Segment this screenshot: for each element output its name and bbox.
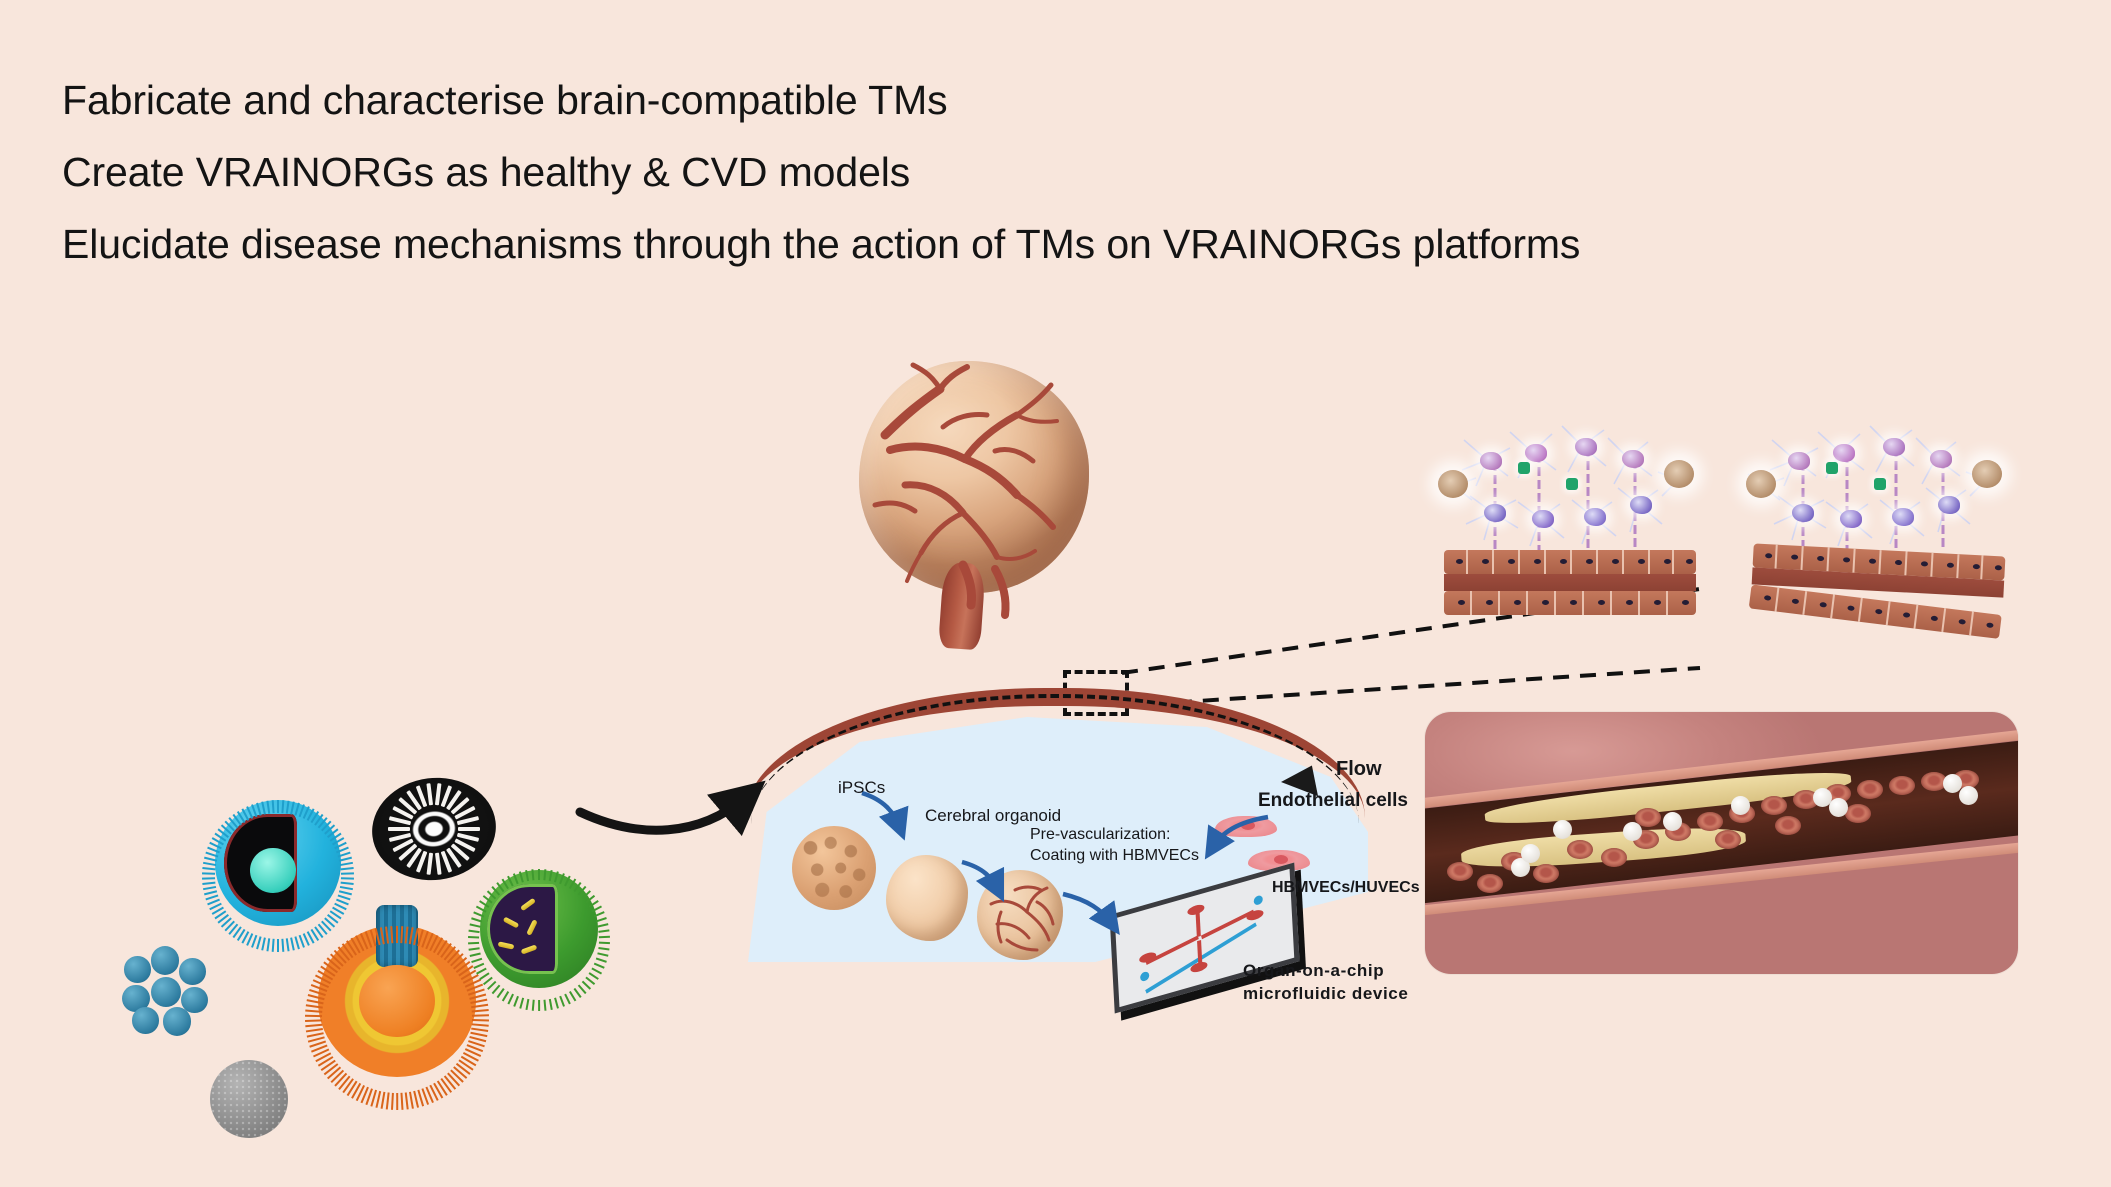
endothelial-cell	[1215, 816, 1277, 837]
microglia-cell	[1972, 460, 2002, 488]
lipid-bristle	[277, 939, 279, 952]
cerebral-organoid-spheroid	[886, 855, 968, 941]
dendrimer-engraving-nanoparticle	[366, 771, 502, 887]
lipid-bristle	[341, 882, 354, 885]
chip-red-channel-right	[1201, 910, 1254, 940]
dendrimer-spoke	[435, 783, 442, 805]
micelle-lipid-tail	[472, 1019, 489, 1021]
dendrimer-spoke	[427, 853, 434, 875]
neuron-soma	[1630, 496, 1652, 514]
graphical-abstract-canvas: Fabricate and characterise brain-compati…	[0, 0, 2111, 1187]
endothelial-layer-bottom	[1444, 591, 1696, 615]
red-blood-cell	[1601, 848, 1627, 867]
polymersome-bristle	[513, 873, 519, 884]
lipid-bristle	[290, 937, 295, 950]
vessel-wall	[1444, 550, 1696, 612]
lipid-bristle	[286, 801, 290, 814]
polymersome-bristle	[471, 958, 482, 963]
red-blood-cell	[1533, 864, 1559, 883]
dendrimer-spoke	[435, 853, 442, 875]
micelle-core	[359, 965, 435, 1038]
microglia-cell	[1746, 470, 1776, 498]
polymersome-bristle	[599, 942, 610, 944]
polymersome-bristle	[594, 911, 605, 917]
polymersome-bristle	[554, 871, 559, 882]
lipid-bristle	[272, 939, 275, 952]
micelle-lipid-tail	[472, 1014, 489, 1017]
lipid-bristle	[341, 867, 354, 870]
lipid-bristle	[202, 867, 215, 870]
lipid-bristle	[286, 938, 290, 951]
micelle-lipid-tail	[305, 1015, 322, 1017]
neuron-soma	[1792, 504, 1814, 522]
microglia-cell	[1438, 470, 1468, 498]
label-prevascularization-line1: Pre-vascularization:	[1030, 826, 1171, 845]
neuron-soma	[1892, 508, 1914, 526]
micelle-lipid-tail	[400, 1093, 403, 1110]
mesoporous-silica-nanoparticle	[210, 1060, 288, 1138]
white-blood-cell	[1731, 796, 1750, 815]
polymersome-bristle	[471, 917, 482, 922]
lipid-bristle	[261, 801, 266, 814]
micelle-lipid-tail	[305, 1024, 322, 1028]
red-blood-cell	[1697, 812, 1723, 831]
lipid-bristle	[203, 886, 216, 890]
dendrimer-spoke	[426, 783, 433, 805]
polymersome-bristle	[559, 996, 565, 1007]
red-blood-cell	[1715, 830, 1741, 849]
lipid-bristle	[261, 937, 266, 950]
neuron-soma	[1575, 438, 1597, 456]
polymersome-bristle	[502, 879, 509, 889]
polymersome-bristle	[543, 1000, 546, 1011]
neuron-soma	[1788, 452, 1810, 470]
lipid-bristle	[277, 800, 279, 813]
white-blood-cell	[1553, 820, 1572, 839]
headline-item-2: Create VRAINORGs as healthy & CVD models	[62, 152, 1862, 193]
micelle-lipid-tail	[472, 1009, 489, 1012]
neuron-soma	[1883, 438, 1905, 456]
atherosclerotic-vessel-panel	[1425, 712, 2018, 974]
healthy-neurovascular-unit	[1432, 400, 1702, 630]
micelle-lipid-tail	[305, 1009, 322, 1012]
neuron-soma	[1525, 444, 1547, 462]
red-blood-cell	[1845, 804, 1871, 823]
micelle-lipid-tail	[307, 999, 324, 1004]
micelle-lipid-tail	[386, 1092, 390, 1109]
label-prevascularization-line2: Coating with HBMVECs	[1030, 847, 1199, 866]
polymersome-bristle	[598, 947, 609, 950]
label-cerebral-organoid: Cerebral organoid	[925, 806, 1061, 826]
chip-port-blue-left	[1140, 971, 1149, 982]
polymersome-bristle	[531, 869, 534, 880]
lipid-bristle	[266, 938, 270, 951]
micelle-lipid-tail	[471, 1004, 488, 1008]
polymersome-with-rods	[480, 870, 598, 988]
polymersome-bristle	[532, 1000, 535, 1011]
polymersome-bristle	[564, 994, 571, 1005]
synapse-marker	[1874, 478, 1886, 490]
white-blood-cell	[1959, 786, 1978, 805]
red-blood-cell	[1447, 862, 1473, 881]
polymersome-bristle	[476, 906, 487, 913]
microglia-cell	[1664, 460, 1694, 488]
polymersome-bristle	[549, 870, 553, 881]
neuron-soma	[1938, 496, 1960, 514]
headline-item-3: Elucidate disease mechanisms through the…	[62, 224, 1862, 265]
organoid-microvessels	[977, 870, 1063, 960]
dendrimer-spoke	[388, 827, 410, 831]
polymersome-bristle	[468, 936, 479, 938]
polymersome-bristle	[597, 923, 608, 927]
lipid-bristle	[266, 801, 270, 814]
neuron-soma	[1833, 444, 1855, 462]
synapse-marker	[1566, 478, 1578, 490]
red-blood-cell	[1775, 816, 1801, 835]
red-blood-cell	[1477, 874, 1503, 893]
chip-red-channel-left	[1146, 935, 1199, 965]
prevascularised-organoid-spheroid	[977, 870, 1063, 960]
vessel-wall	[1751, 543, 2006, 618]
lipid-bristle	[256, 803, 262, 816]
polymersome-bristle	[597, 952, 608, 956]
diseased-neurovascular-unit	[1740, 400, 2010, 630]
lipid-bristle	[341, 872, 354, 874]
ipsc-aggregate	[792, 826, 876, 910]
lipid-bristle	[203, 862, 216, 866]
polymersome-bristle	[594, 963, 605, 969]
polymersome-bristle	[470, 953, 481, 957]
white-blood-cell	[1829, 798, 1848, 817]
polymersome-bristle	[519, 871, 524, 882]
liposome-cutaway-nanoparticle	[215, 800, 341, 926]
synapse-marker	[1826, 462, 1838, 474]
micelle-lipid-tail	[305, 1019, 322, 1022]
polymersome-bristle	[469, 947, 480, 950]
polymeric-nanosphere	[116, 938, 218, 1040]
vascularised-brain-organoid	[845, 355, 1105, 645]
polymersome-bristle	[525, 999, 529, 1010]
neuron-soma	[1930, 450, 1952, 468]
micelle-lipid-tail	[472, 1023, 489, 1026]
polymersome-bristle	[543, 869, 546, 880]
polymersome-bristle	[507, 876, 514, 887]
polymersome-bristle	[599, 936, 610, 939]
lipid-bristle	[202, 872, 215, 874]
polymersome-core	[487, 884, 558, 974]
neuron-soma	[1840, 510, 1862, 528]
white-blood-cell	[1663, 812, 1682, 831]
micelle-with-membrane-protein	[318, 925, 476, 1077]
lipid-bristle	[281, 800, 284, 813]
polymersome-bristle	[559, 873, 565, 884]
neuron-soma	[1480, 452, 1502, 470]
polymersome-bristle	[525, 870, 529, 881]
neuron-soma	[1584, 508, 1606, 526]
lipid-bristle	[202, 882, 215, 885]
chip-port-blue-right	[1254, 895, 1263, 906]
neuron-soma	[1484, 504, 1506, 522]
organoid-vessel-network	[845, 355, 1105, 645]
polymersome-bristle	[519, 998, 524, 1009]
polymersome-bristle	[549, 999, 553, 1010]
polymersome-bristle	[596, 917, 607, 922]
liposome-cargo	[250, 848, 295, 893]
lipid-bristle	[339, 857, 352, 862]
lipid-bristle	[340, 886, 353, 890]
polymersome-bristle	[598, 929, 609, 932]
polymersome-bristle	[596, 958, 607, 963]
red-blood-cell	[1567, 840, 1593, 859]
lipid-bristle	[341, 877, 354, 879]
endothelial-layer-top	[1444, 550, 1696, 574]
lipid-bristle	[281, 939, 284, 952]
micelle-lipid-tail	[396, 926, 398, 943]
micelle-lipid-tail	[306, 1004, 323, 1008]
micelle-lipid-tail	[391, 1093, 394, 1110]
dendrimer-spoke	[458, 827, 480, 831]
white-blood-cell	[1521, 844, 1540, 863]
headline-item-1: Fabricate and characterise brain-compati…	[62, 80, 1862, 121]
micelle-lipid-tail	[405, 1092, 409, 1109]
synapse-marker	[1518, 462, 1530, 474]
vessel-lumen	[1444, 574, 1696, 591]
polymersome-bristle	[468, 942, 479, 945]
polymersome-bristle	[468, 930, 479, 933]
white-blood-cell	[1623, 822, 1642, 841]
label-endothelial-cells: Endothelial cells	[1258, 790, 1408, 812]
micelle-lipid-tail	[396, 1093, 398, 1110]
label-chip-line2: microfluidic device	[1243, 984, 1408, 1004]
polymersome-bristle	[538, 869, 540, 880]
polymersome-bristle	[513, 996, 519, 1007]
micelle-lipid-tail	[471, 1028, 488, 1032]
label-chip-line1: Organ-on-a-chip	[1243, 961, 1384, 981]
lipid-bristle	[272, 800, 275, 813]
polymersome-bristle	[538, 1000, 540, 1011]
polymersome-bristle	[507, 994, 514, 1005]
label-hbmvecs-huvecs: HBMVECs/HUVECs	[1272, 879, 1420, 898]
polymersome-bristle	[473, 911, 484, 917]
headline-list: Fabricate and characterise brain-compati…	[62, 80, 1862, 296]
red-blood-cell	[1857, 780, 1883, 799]
label-flow: Flow	[1336, 758, 1382, 782]
lipid-bristle	[340, 862, 353, 866]
micelle-lipid-tail	[381, 1092, 386, 1109]
chip-red-inlet-stem	[1195, 910, 1200, 937]
lipid-bristle	[204, 857, 217, 862]
lipid-bristle	[202, 877, 215, 879]
red-blood-cell	[1761, 796, 1787, 815]
polymersome-bristle	[554, 998, 559, 1009]
neuron-soma	[1532, 510, 1554, 528]
neuron-soma	[1622, 450, 1644, 468]
red-blood-cell	[1889, 776, 1915, 795]
label-ipscs: iPSCs	[838, 778, 885, 798]
polymersome-bristle	[470, 923, 481, 927]
